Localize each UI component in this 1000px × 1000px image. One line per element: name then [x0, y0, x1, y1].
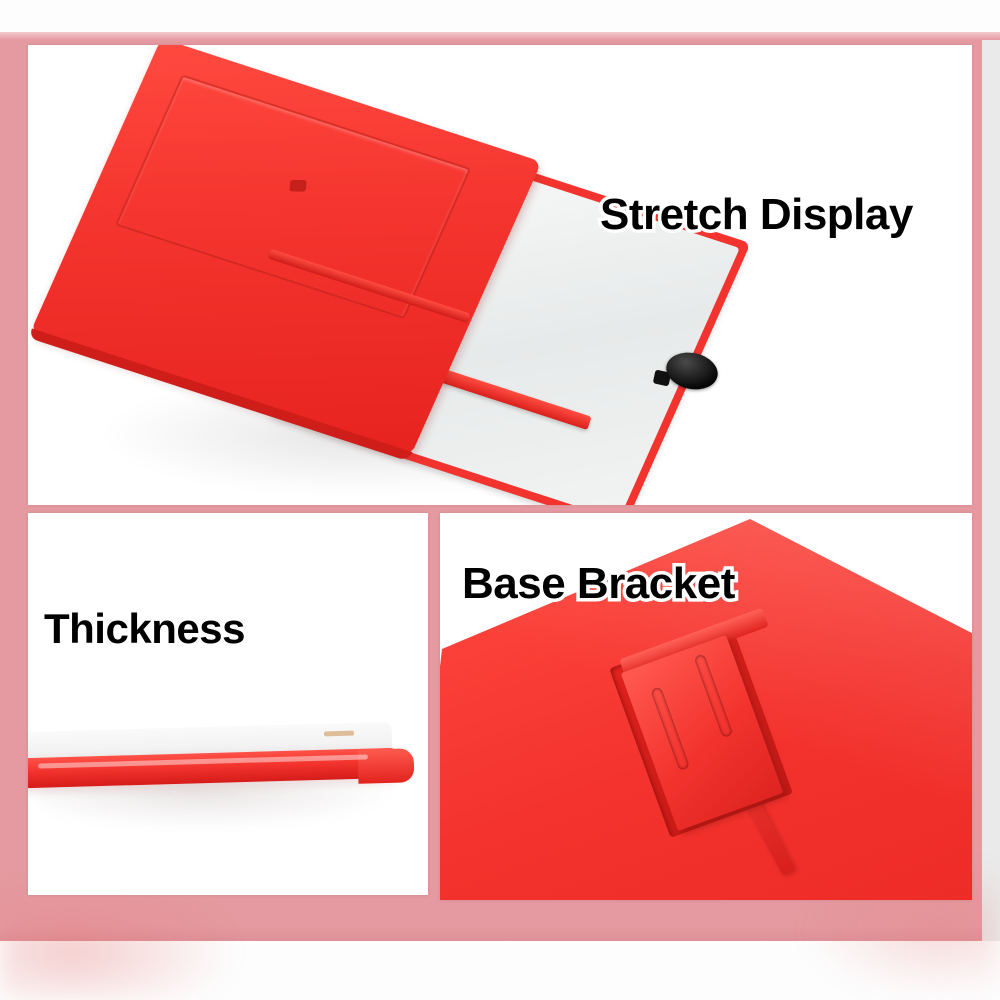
cover-notch [289, 180, 307, 192]
panel-stretch-display: Stretch Display [28, 45, 972, 505]
bracket-slot [650, 686, 690, 771]
collage-stage: Stretch Display Thickness Base Bracket [0, 0, 1000, 1000]
background-bleed-left [0, 880, 240, 1000]
panel-base-bracket: Base Bracket [440, 513, 972, 900]
cover-groove [115, 74, 471, 319]
pink-highlight-strip [0, 32, 1000, 40]
thickness-photo [28, 513, 428, 895]
callout-label-base-bracket: Base Bracket [462, 562, 735, 606]
thickness-ground-shadow [38, 783, 398, 829]
edge-accent [324, 731, 354, 737]
panel-thickness [28, 513, 428, 895]
callout-label-thickness: Thickness [44, 608, 245, 650]
callout-label-stretch-display: Stretch Display [600, 193, 913, 237]
top-white-margin [0, 0, 1000, 33]
stretch-display-photo [28, 45, 972, 505]
bracket-slot [694, 654, 734, 739]
